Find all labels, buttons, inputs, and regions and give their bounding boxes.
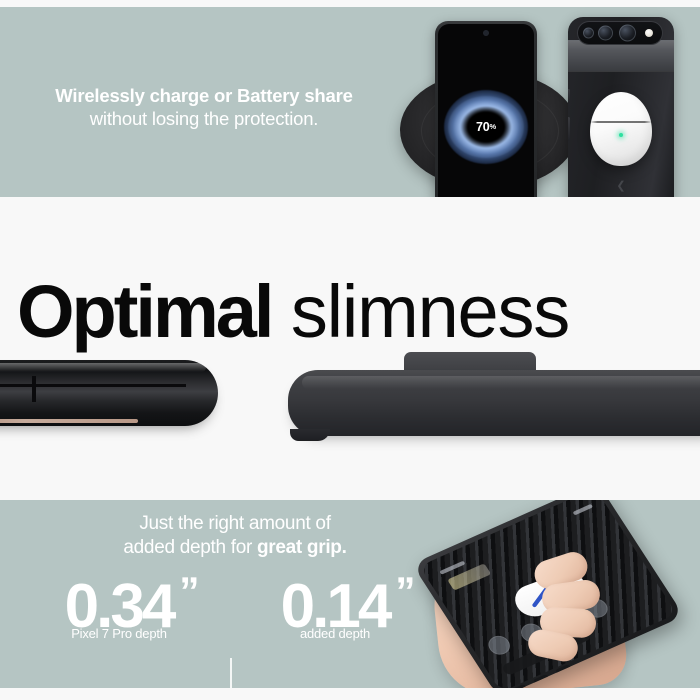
charging-headline-line2: without losing the protection.: [0, 108, 408, 131]
app-icon[interactable]: [485, 633, 514, 658]
battery-percentage-value: 70: [476, 120, 490, 134]
charging-headline: Wirelessly charge or Battery share witho…: [0, 85, 408, 130]
measurement-unit-icon: ”: [179, 572, 197, 612]
depth-headline-emphasis: great grip.: [257, 537, 347, 558]
phone-back-view: ❮: [568, 17, 674, 197]
slimness-headline-light: slimness: [271, 270, 569, 353]
phone-front-view: 70%: [435, 21, 537, 197]
phone-screen: 70%: [438, 24, 534, 197]
measurement-added-depth: 0.14” added depth: [240, 578, 430, 641]
measurement-value-wrap: 0.34”: [65, 578, 174, 637]
volume-button: [568, 117, 570, 141]
bare-phone-edge-highlight: [0, 363, 206, 372]
charging-headline-line1: Wirelessly charge or Battery share: [0, 85, 408, 108]
product-feature-page: Wirelessly charge or Battery share witho…: [0, 0, 700, 700]
case-corner-foot: [290, 429, 330, 441]
slimness-panel: Optimal slimness: [0, 197, 700, 500]
slimness-headline-bold: Optimal: [17, 270, 271, 353]
camera-lens-icon: [619, 25, 636, 42]
depth-headline-line1: Just the right amount of: [40, 512, 430, 536]
side-button: [568, 89, 570, 103]
added-depth-panel: Just the right amount of added depth for…: [0, 500, 700, 688]
measurement-pixel-depth: 0.34” Pixel 7 Pro depth: [24, 578, 214, 641]
battery-percentage: 70%: [476, 120, 496, 134]
camera-lens-icon: [583, 28, 594, 39]
wireless-charging-panel: Wirelessly charge or Battery share witho…: [0, 7, 700, 197]
depth-headline: Just the right amount of added depth for…: [40, 512, 430, 561]
battery-percentage-unit: %: [490, 122, 496, 131]
spigen-logo-icon: ❮: [616, 181, 625, 192]
measurement-divider: [230, 658, 232, 688]
bare-phone-copper-accent: [0, 419, 138, 423]
measurement-value-wrap: 0.14”: [281, 578, 390, 637]
slimness-headline: Optimal slimness: [17, 275, 700, 349]
status-bar-right: [572, 503, 593, 515]
charging-led-icon: [619, 133, 623, 137]
case-edge-profile: [288, 370, 700, 436]
earbuds-case: [590, 92, 652, 166]
camera-flash-icon: [645, 29, 653, 37]
camera-island: [577, 21, 663, 45]
depth-headline-line2-prefix: added depth for: [123, 537, 257, 558]
hand-holding-phone: [418, 500, 700, 688]
depth-measurements: 0.34” Pixel 7 Pro depth 0.14” added dept…: [16, 578, 436, 668]
camera-lens-icon: [598, 26, 613, 41]
front-camera-icon: [484, 31, 488, 35]
depth-headline-line2: added depth for great grip.: [40, 536, 430, 560]
measurement-value: 0.34: [65, 572, 174, 641]
measurement-value: 0.14: [281, 572, 390, 641]
measurement-unit-icon: ”: [395, 572, 413, 612]
